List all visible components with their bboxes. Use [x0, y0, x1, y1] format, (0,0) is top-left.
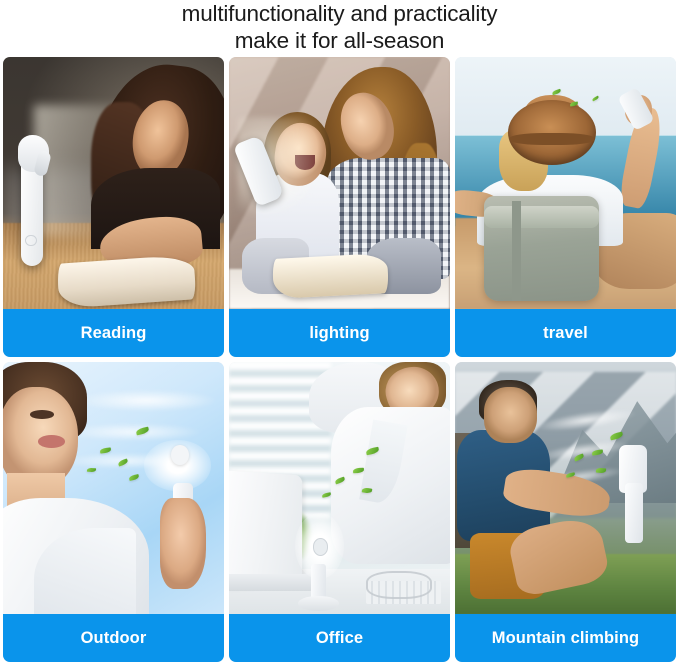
scene-travel: [455, 57, 676, 309]
laptop-base: [229, 574, 313, 592]
caption-label: lighting: [309, 324, 369, 343]
use-case-card-travel[interactable]: travel: [455, 57, 676, 357]
caption-mountain-climbing: Mountain climbing: [455, 614, 676, 662]
caption-travel: travel: [455, 309, 676, 357]
page-title-line-2: make it for all-season: [0, 28, 679, 55]
scene-reading: [3, 57, 224, 309]
photo-lighting: [229, 57, 450, 309]
scene-lighting: [229, 57, 450, 309]
use-case-grid: Reading: [3, 57, 676, 662]
caption-label: Reading: [81, 324, 147, 343]
backpack-strap: [512, 201, 521, 302]
use-case-card-outdoor[interactable]: Outdoor: [3, 362, 224, 662]
caption-label: travel: [543, 324, 588, 343]
use-case-card-office[interactable]: Office: [229, 362, 450, 662]
use-case-card-mountain-climbing[interactable]: Mountain climbing: [455, 362, 676, 662]
caption-label: Office: [316, 629, 363, 648]
page-title: multifunctionality and practicality make…: [0, 0, 679, 57]
open-book: [57, 254, 197, 309]
handheld-fan-light-device: [18, 135, 53, 266]
backpack-roll-top: [484, 206, 599, 229]
eyeglasses: [366, 571, 432, 599]
scene-outdoor: [3, 362, 224, 614]
photo-reading: [3, 57, 224, 309]
caption-label: Mountain climbing: [492, 629, 639, 648]
hand-gripping-fan: [160, 498, 206, 589]
man-face: [484, 387, 537, 442]
product-feature-infographic: multifunctionality and practicality make…: [0, 0, 679, 664]
caption-outdoor: Outdoor: [3, 614, 224, 662]
caption-label: Outdoor: [81, 629, 147, 648]
device-button: [25, 235, 37, 247]
scene-mountain-climbing: [455, 362, 676, 614]
photo-outdoor: [3, 362, 224, 614]
laptop-screen: [229, 470, 301, 586]
photo-travel: [455, 57, 676, 309]
fan-hub: [171, 445, 189, 465]
photo-office: [229, 362, 450, 614]
fan-handle: [625, 483, 643, 543]
use-case-card-lighting[interactable]: lighting: [229, 57, 450, 357]
use-case-card-reading[interactable]: Reading: [3, 57, 224, 357]
photo-mountain-climbing: [455, 362, 676, 614]
hat-band: [510, 133, 594, 146]
woman-eye: [30, 410, 54, 419]
caption-office: Office: [229, 614, 450, 662]
caption-reading: Reading: [3, 309, 224, 357]
woman-lips: [38, 435, 65, 448]
page-title-line-1: multifunctionality and practicality: [0, 1, 679, 28]
scene-office: [229, 362, 450, 614]
open-book: [272, 253, 389, 299]
caption-lighting: lighting: [229, 309, 450, 357]
